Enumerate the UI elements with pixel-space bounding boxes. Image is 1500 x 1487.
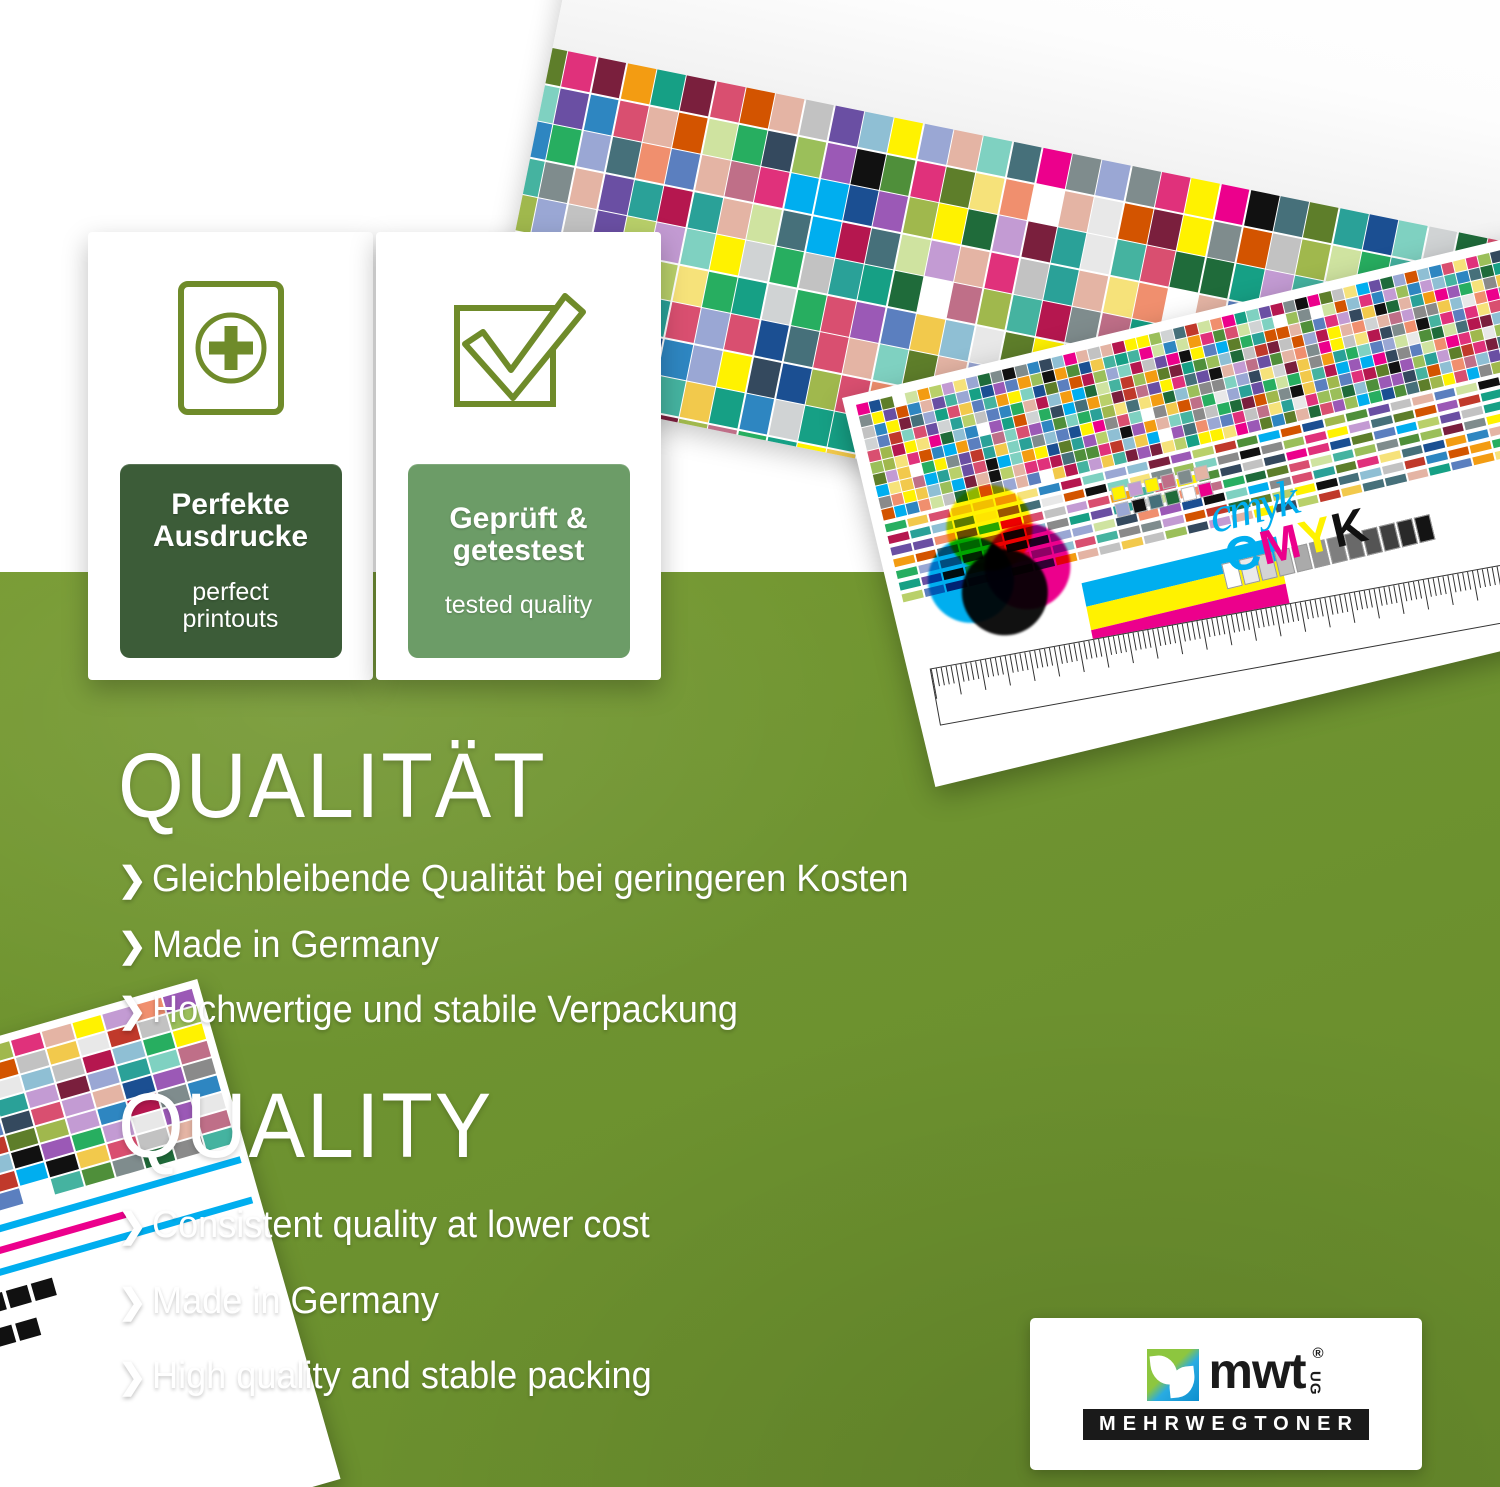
section-english: QUALITY ❯ Consistent quality at lower co… (118, 1080, 678, 1399)
list-item: ❯ Made in Germany (118, 924, 948, 968)
list-item-label: Hochwertige und stabile Verpackung (152, 989, 738, 1033)
list-item-label: High quality and stable packing (152, 1355, 652, 1399)
feature-label-dark: Perfekte Ausdrucke perfect printouts (120, 464, 342, 658)
list-item: ❯ High quality and stable packing (118, 1355, 678, 1399)
list-item-label: Gleichbleibende Qualität bei geringeren … (152, 858, 909, 902)
list-item: ❯ Consistent quality at lower cost (118, 1204, 678, 1248)
feature-card-panel: Perfekte Ausdrucke perfect printouts Gep… (88, 232, 668, 680)
logo-tagline: MEHRWEGTONER (1083, 1409, 1369, 1440)
promo-banner: cmyk CMYK Perfekte (0, 0, 1500, 1487)
page-title-de: QUALITÄT (118, 740, 882, 832)
list-item-label: Consistent quality at lower cost (152, 1204, 650, 1248)
list-item: ❯ Made in Germany (118, 1280, 678, 1324)
list-item-label: Made in Germany (152, 924, 439, 968)
logo-wordmark: mwt ® UG (1209, 1349, 1306, 1394)
feature-subtitle-en-line1: tested quality (445, 592, 592, 619)
mwt-leaf-mark-icon (1147, 1349, 1199, 1401)
logo-top-row: mwt ® UG (1147, 1349, 1306, 1401)
feature-subtitle-en-line2: printouts (183, 606, 279, 633)
list-item-label: Made in Germany (152, 1280, 439, 1324)
chevron-right-icon: ❯ (118, 1209, 152, 1243)
feature-card-tested-quality[interactable]: Geprüft & getestest tested quality (376, 232, 661, 680)
bullet-list-en: ❯ Consistent quality at lower cost ❯ Mad… (118, 1204, 678, 1399)
registered-trademark-icon: ® (1312, 1347, 1322, 1361)
logo-legal-form: UG (1308, 1371, 1322, 1396)
section-german: QUALITÄT ❯ Gleichbleibende Qualität bei … (118, 740, 948, 1033)
chevron-right-icon: ❯ (118, 863, 152, 897)
chevron-right-icon: ❯ (118, 1285, 152, 1319)
page-title-en: QUALITY (118, 1080, 633, 1172)
chevron-right-icon: ❯ (118, 929, 152, 963)
chevron-right-icon: ❯ (118, 994, 152, 1028)
feature-subtitle-en-line1: perfect (183, 579, 279, 606)
feature-label-light: Geprüft & getestest tested quality (408, 464, 630, 658)
list-item: ❯ Gleichbleibende Qualität bei geringere… (118, 858, 948, 902)
brand-logo[interactable]: mwt ® UG MEHRWEGTONER (1030, 1318, 1422, 1470)
feature-title-de-line1: Perfekte (153, 489, 308, 521)
checkbox-check-icon (376, 232, 661, 464)
feature-title-de-line1: Geprüft & (449, 503, 587, 535)
chevron-right-icon: ❯ (118, 1360, 152, 1394)
feature-title-de-line2: getestest (449, 535, 587, 567)
page-plus-icon (88, 232, 373, 464)
bullet-list-de: ❯ Gleichbleibende Qualität bei geringere… (118, 858, 948, 1033)
feature-card-perfect-printouts[interactable]: Perfekte Ausdrucke perfect printouts (88, 232, 373, 680)
list-item: ❯ Hochwertige und stabile Verpackung (118, 989, 948, 1033)
feature-title-de-line2: Ausdrucke (153, 521, 308, 553)
